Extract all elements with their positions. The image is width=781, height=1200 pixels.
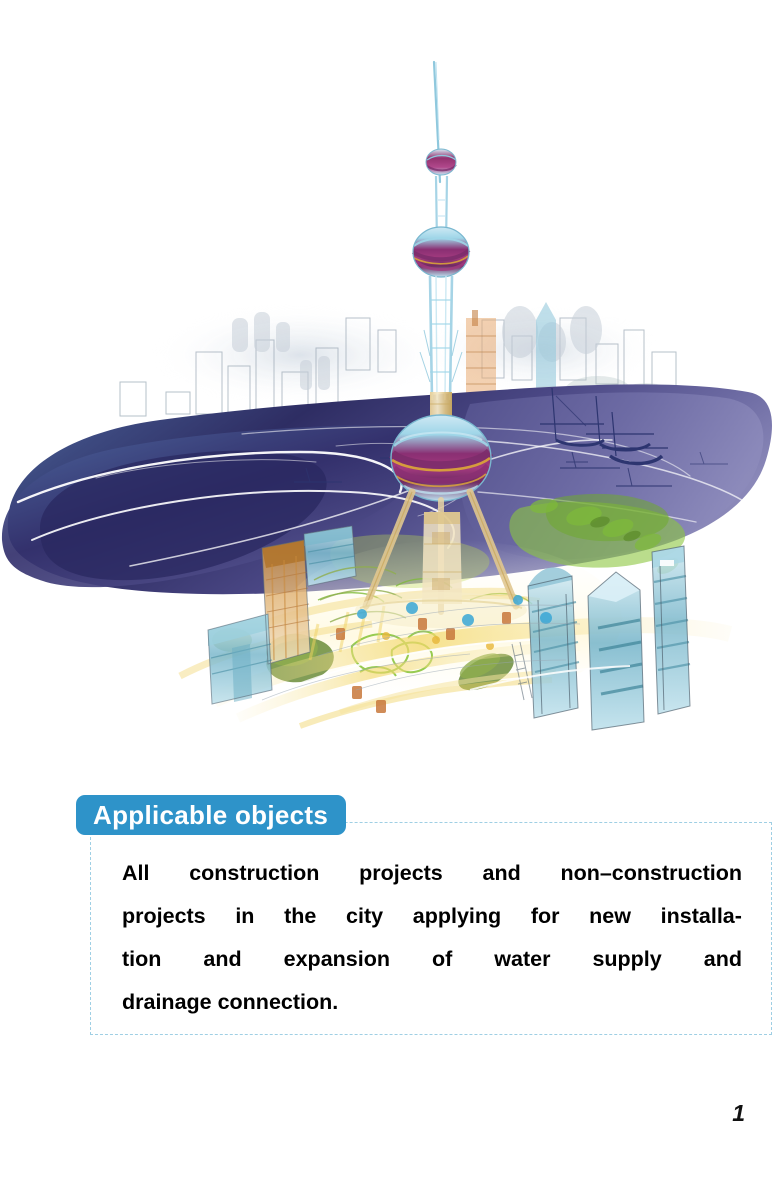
illustration-canvas [0, 0, 781, 760]
body-word: in [235, 895, 254, 938]
body-word: All [122, 852, 149, 895]
body-word: supply [592, 938, 661, 981]
building-skyscraper-a [528, 567, 579, 718]
tower-platform [355, 592, 527, 628]
illustration [0, 0, 781, 760]
section-body-text: Allconstructionprojectsandnon–constructi… [122, 852, 742, 1024]
body-word: new [589, 895, 631, 938]
body-line-3: tionandexpansionofwatersupplyand [122, 938, 742, 981]
body-word: projects [122, 895, 206, 938]
body-word: of [432, 938, 452, 981]
body-word: water [494, 938, 550, 981]
building-skyscraper-c [652, 546, 690, 714]
body-word: construction [189, 852, 319, 895]
body-word: non–construction [560, 852, 742, 895]
tower-sphere-upper [413, 227, 469, 277]
body-word: the [284, 895, 316, 938]
skyline-teal-tower [536, 302, 556, 390]
tower-sphere-main [391, 415, 491, 501]
building-teal-left [304, 526, 356, 586]
body-line-1: Allconstructionprojectsandnon–constructi… [122, 852, 742, 895]
body-word: and [704, 938, 742, 981]
body-line-2: projectsinthecityapplyingfornewinstalla- [122, 895, 742, 938]
body-word: projects [359, 852, 443, 895]
body-word: and [203, 938, 241, 981]
building-skyscraper-b [588, 572, 644, 730]
body-word: city [346, 895, 383, 938]
body-word: applying [413, 895, 501, 938]
body-word: for [531, 895, 560, 938]
section-badge: Applicable objects [76, 795, 346, 835]
page-number: 1 [732, 1100, 745, 1127]
body-word: tion [122, 938, 161, 981]
body-line-4: drainage connection. [122, 981, 742, 1024]
body-word: expansion [284, 938, 390, 981]
section-badge-label: Applicable objects [93, 802, 328, 828]
tower-sphere-top [426, 149, 456, 175]
body-word: and [482, 852, 520, 895]
body-word: installa- [661, 895, 742, 938]
